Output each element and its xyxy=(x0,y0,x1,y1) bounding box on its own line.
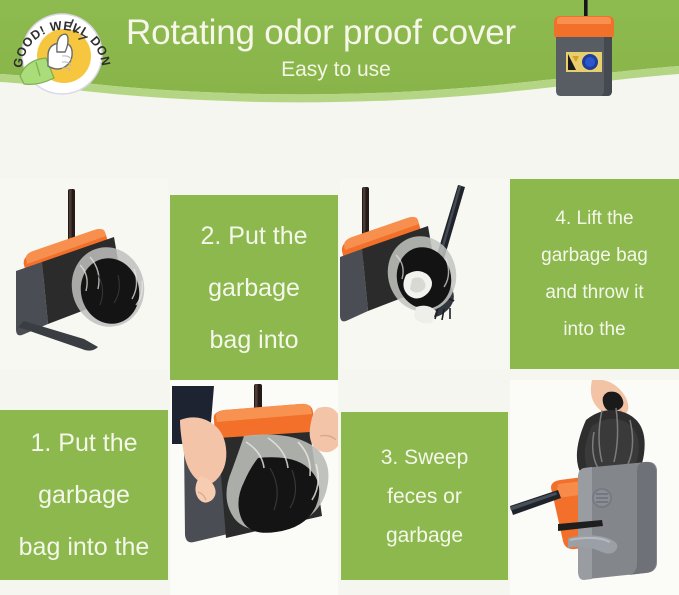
step-card-1: 1. Put the garbage bag into the xyxy=(0,410,168,580)
step-4-line-4: into the xyxy=(516,311,673,348)
page-subtitle: Easy to use xyxy=(126,57,546,83)
step-card-4: 4. Lift the garbage bag and throw it int… xyxy=(510,179,679,369)
step-card-3: 3. Sweep feces or garbage xyxy=(341,412,508,580)
step-3-line-2: feces or xyxy=(347,477,502,516)
photo-dustpan-with-bag xyxy=(0,179,168,369)
step-2-line-3: bag into xyxy=(176,314,332,366)
step-2-line-2: garbage xyxy=(176,262,332,314)
page-title: Rotating odor proof cover xyxy=(126,12,546,54)
step-4-text: 4. Lift the garbage bag and throw it int… xyxy=(510,200,679,348)
step-3-line-1: 3. Sweep xyxy=(347,438,502,477)
step-3-line-3: garbage xyxy=(347,516,502,555)
step-1-text: 1. Put the garbage bag into the xyxy=(0,417,168,573)
step-4-line-3: and throw it xyxy=(516,274,673,311)
header-banner: GOOD! WELL DONE Rotating odor proof cove… xyxy=(0,0,679,122)
step-2-line-1: 2. Put the xyxy=(176,210,332,262)
dustpan-with-bag-icon xyxy=(0,179,168,369)
step-2-text: 2. Put the garbage bag into xyxy=(170,210,338,366)
lifting-bag-from-bin-icon xyxy=(510,380,679,595)
step-4-line-1: 4. Lift the xyxy=(516,200,673,237)
step-1-line-3: bag into the xyxy=(6,521,162,573)
dustpan-product-icon xyxy=(548,0,620,104)
badge-good-well-done: GOOD! WELL DONE xyxy=(10,6,114,102)
step-card-2: 2. Put the garbage bag into xyxy=(170,195,338,380)
step-4-line-2: garbage bag xyxy=(516,237,673,274)
photo-lifting-bag-from-bin xyxy=(510,380,679,595)
step-1-line-2: garbage xyxy=(6,469,162,521)
step-3-text: 3. Sweep feces or garbage xyxy=(341,438,508,555)
hands-inserting-bag-icon xyxy=(170,380,338,595)
photo-hands-inserting-bag xyxy=(170,380,338,595)
step-1-line-1: 1. Put the xyxy=(6,417,162,469)
dustpan-broom-sweeping-icon xyxy=(340,179,508,369)
steps-grid: 2. Put the garbage bag into xyxy=(0,122,679,595)
photo-dustpan-broom-sweeping xyxy=(340,179,508,369)
